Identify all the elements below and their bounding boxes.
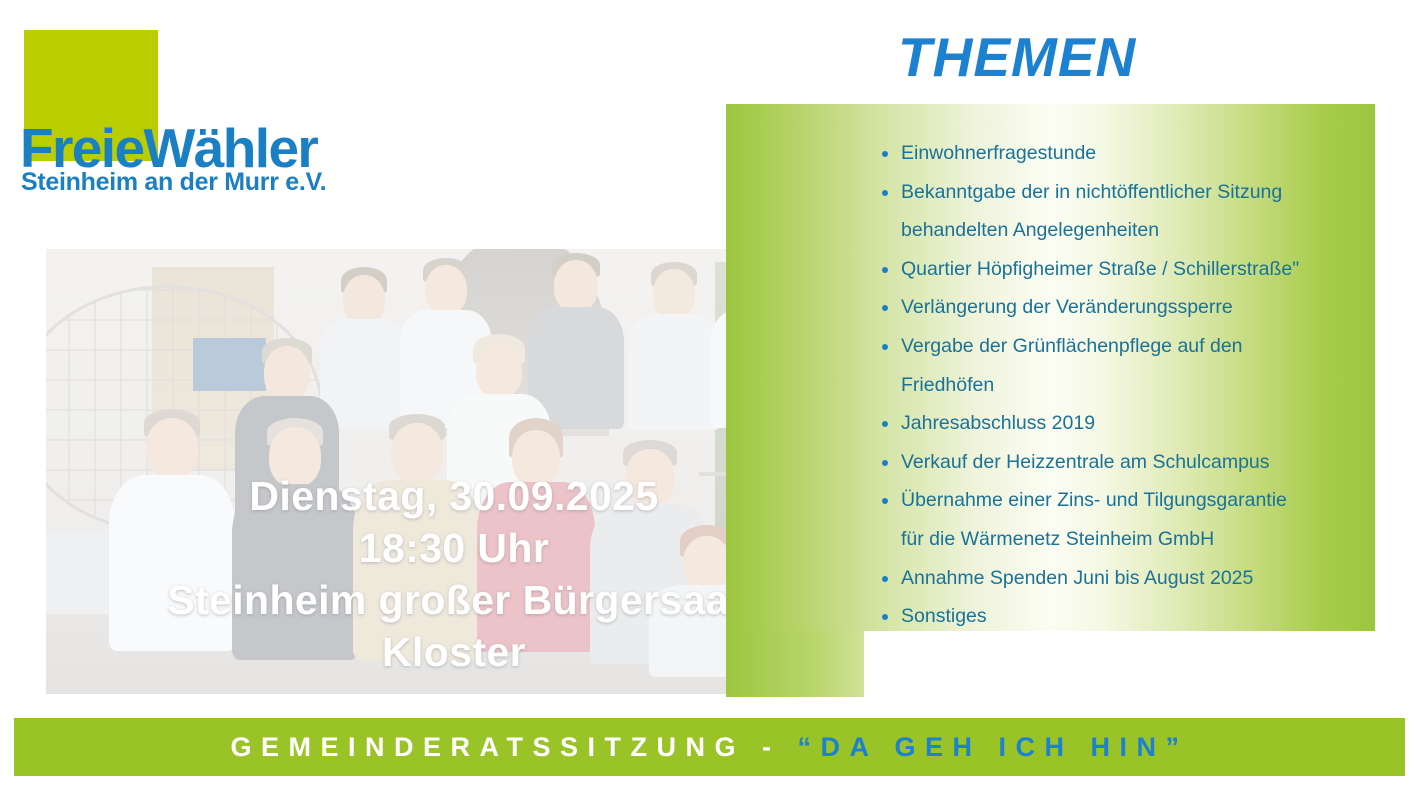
topics-panel-foot (726, 631, 864, 697)
topic-item: Sonstiges (880, 597, 1370, 636)
topic-item: Bekanntgabe der in nichtöffentlicher Sit… (880, 173, 1370, 212)
logo-subtitle: Steinheim an der Murr e.V. (21, 168, 326, 197)
topic-item: Verlängerung der Veränderungssperre (880, 288, 1370, 327)
topics-heading: THEMEN (898, 30, 1136, 85)
topic-item: Verkauf der Heizzentrale am Schulcampus (880, 443, 1370, 482)
topic-item-continuation: behandelten Angelegenheiten (880, 211, 1370, 250)
poster-canvas: FreieWähler Steinheim an der Murr e.V. (0, 0, 1420, 799)
banner-text-blue: DA GEH ICH HIN (821, 732, 1166, 762)
topic-item: Quartier Höpfigheimer Straße / Schillers… (880, 250, 1370, 289)
topic-item-continuation: für die Wärmenetz Steinheim GmbH (880, 520, 1370, 559)
organization-logo: FreieWähler Steinheim an der Murr e.V. (0, 0, 420, 210)
banner-quote-close: ” (1166, 732, 1189, 762)
topics-list: Einwohnerfragestunde Bekanntgabe der in … (880, 134, 1370, 636)
topic-item-continuation: Friedhöfen (880, 366, 1370, 405)
topic-item: Einwohnerfragestunde (880, 134, 1370, 173)
topic-item: Annahme Spenden Juni bis August 2025 (880, 559, 1370, 598)
topic-item: Übernahme einer Zins- und Tilgungsgarant… (880, 481, 1370, 520)
banner-text: GEMEINDERATSSITZUNG - “DA GEH ICH HIN” (230, 734, 1188, 761)
banner-text-white: GEMEINDERATSSITZUNG - (230, 732, 797, 762)
topic-item: Jahresabschluss 2019 (880, 404, 1370, 443)
banner-quote-open: “ (798, 732, 821, 762)
bottom-banner: GEMEINDERATSSITZUNG - “DA GEH ICH HIN” (14, 718, 1405, 776)
topic-item: Vergabe der Grünflächenpflege auf den (880, 327, 1370, 366)
